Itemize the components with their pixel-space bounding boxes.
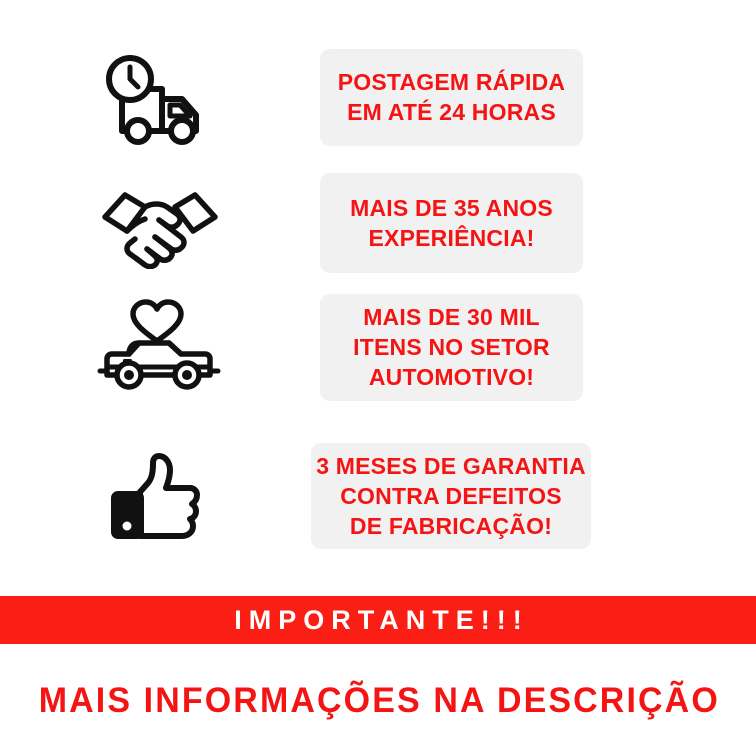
important-banner-label: IMPORTANTE!!! <box>227 607 528 634</box>
car-heart-icon <box>0 297 320 397</box>
benefit-text-line: 3 MESES DE GARANTIA <box>316 451 586 481</box>
benefit-chip-shipping: POSTAGEM RÁPIDA EM ATÉ 24 HORAS <box>320 49 583 146</box>
benefit-chip-warranty: 3 MESES DE GARANTIA CONTRA DEFEITOS DE F… <box>311 443 591 549</box>
benefit-text-line: MAIS DE 30 MIL <box>363 302 540 332</box>
benefit-text-line: EXPERIÊNCIA! <box>369 223 535 253</box>
benefit-chip-experience: MAIS DE 35 ANOS EXPERIÊNCIA! <box>320 173 583 273</box>
handshake-icon <box>0 177 320 269</box>
promotional-banner: POSTAGEM RÁPIDA EM ATÉ 24 HORAS MA <box>0 0 756 756</box>
important-banner: IMPORTANTE!!! <box>0 596 756 644</box>
footer-note: MAIS INFORMAÇÕES NA DESCRIÇÃO <box>0 644 756 756</box>
footer-note-label: MAIS INFORMAÇÕES NA DESCRIÇÃO <box>36 683 719 718</box>
benefit-row-shipping: POSTAGEM RÁPIDA EM ATÉ 24 HORAS <box>0 34 756 160</box>
benefit-text-line: ITENS NO SETOR <box>353 332 550 362</box>
thumbs-up-icon <box>0 448 320 544</box>
benefit-row-warranty: 3 MESES DE GARANTIA CONTRA DEFEITOS DE F… <box>0 437 756 555</box>
benefits-list: POSTAGEM RÁPIDA EM ATÉ 24 HORAS MA <box>0 0 756 596</box>
benefit-text-line: EM ATÉ 24 HORAS <box>347 97 556 127</box>
benefit-text-line: POSTAGEM RÁPIDA <box>338 67 565 97</box>
benefit-text-line: CONTRA DEFEITOS <box>340 481 562 511</box>
delivery-truck-clock-icon <box>0 47 320 147</box>
benefit-text-line: DE FABRICAÇÃO! <box>350 511 552 541</box>
benefit-row-catalog: MAIS DE 30 MIL ITENS NO SETOR AUTOMOTIVO… <box>0 288 756 406</box>
benefit-row-experience: MAIS DE 35 ANOS EXPERIÊNCIA! <box>0 163 756 283</box>
benefit-chip-catalog: MAIS DE 30 MIL ITENS NO SETOR AUTOMOTIVO… <box>320 294 583 401</box>
benefit-text-line: MAIS DE 35 ANOS <box>350 193 553 223</box>
benefit-text-line: AUTOMOTIVO! <box>369 362 534 392</box>
